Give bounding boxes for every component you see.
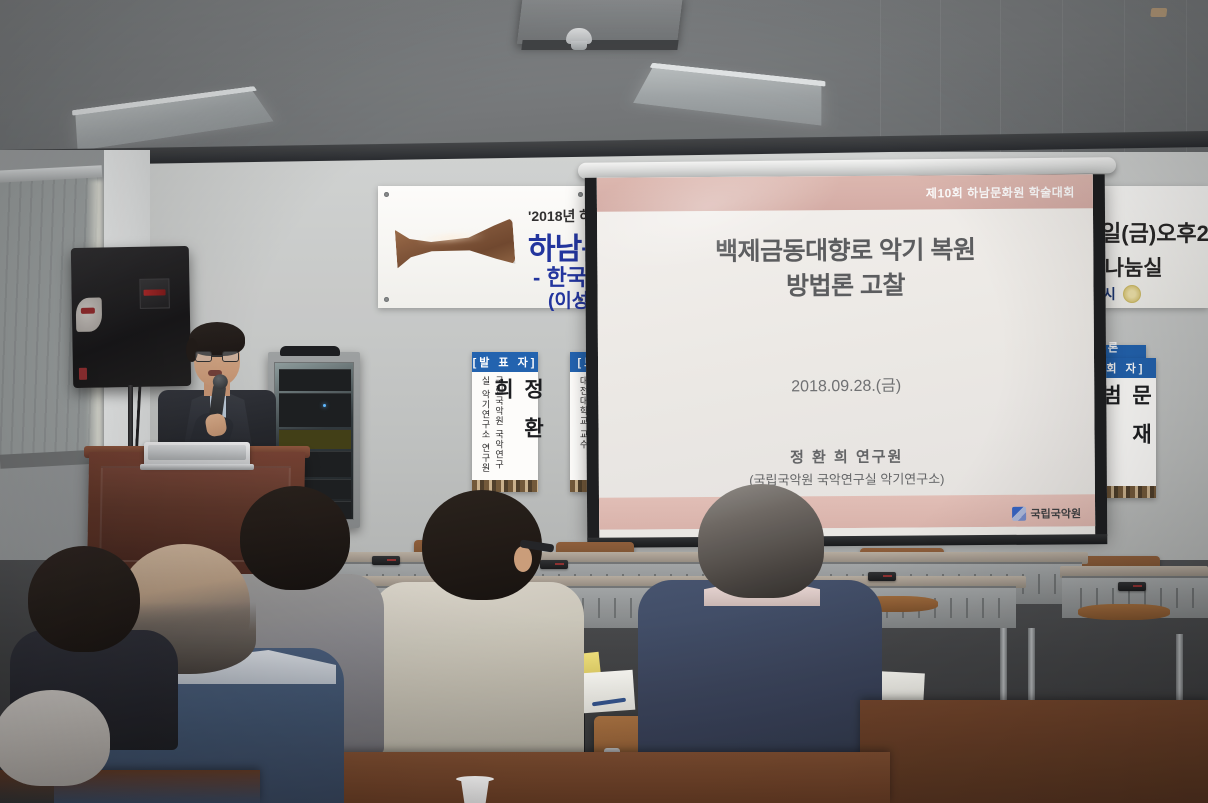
slide-date: 2018.09.28.(금) xyxy=(598,370,1094,397)
speaker-brand-badge xyxy=(144,289,166,295)
audience-member xyxy=(0,690,124,803)
smoke-detector-icon xyxy=(566,28,592,44)
remote-control[interactable] xyxy=(1118,582,1146,591)
chair-seat[interactable] xyxy=(1078,604,1170,620)
placard-presenter: [발 표 자] 국립국악원 국악연구실 악기연구소 연구원 정 환 희 xyxy=(472,352,538,492)
slide-title-line-2: 방법론 고찰 xyxy=(597,267,1093,305)
slide-header-text: 제10회 하남문화원 학술대회 xyxy=(926,183,1075,201)
foreground-table xyxy=(860,700,1208,803)
flower-emblem-icon xyxy=(1123,285,1141,303)
gugak-logo-text: 국립국악원 xyxy=(1030,505,1081,521)
speaker-logo-icon xyxy=(76,298,103,332)
audience-member xyxy=(396,490,636,772)
laptop[interactable] xyxy=(144,442,250,466)
gugak-logo-icon xyxy=(1012,507,1026,521)
banner-year: '2018년 하 xyxy=(528,206,592,226)
slide-header-band: 제10회 하남문화원 학술대회 xyxy=(597,174,1093,211)
glasses-icon xyxy=(195,351,239,362)
slide-presenter: 정 환 희 연구원 xyxy=(599,444,1095,468)
gugak-center-logo: 국립국악원 xyxy=(1012,505,1081,521)
projector-lens xyxy=(1150,8,1167,17)
placard-name: 정 환 희 xyxy=(487,378,547,480)
ceiling-projector: PROJECTOR xyxy=(517,0,683,44)
slide-title: 백제금동대향로 악기 복원 방법론 고찰 xyxy=(597,232,1093,304)
slide-title-line-1: 백제금동대향로 악기 복원 xyxy=(597,232,1093,270)
conference-photo-scene: PROJECTOR '2018년 하 하남문 - 한국 고대 (이성산 9월 2… xyxy=(0,0,1208,803)
placard-role: [발 표 자] xyxy=(472,352,538,372)
bronze-bell-artifact-image xyxy=(396,208,514,280)
presentation-slide: 제10회 하남문화원 학술대회 백제금동대향로 악기 복원 방법론 고찰 201… xyxy=(597,174,1095,529)
